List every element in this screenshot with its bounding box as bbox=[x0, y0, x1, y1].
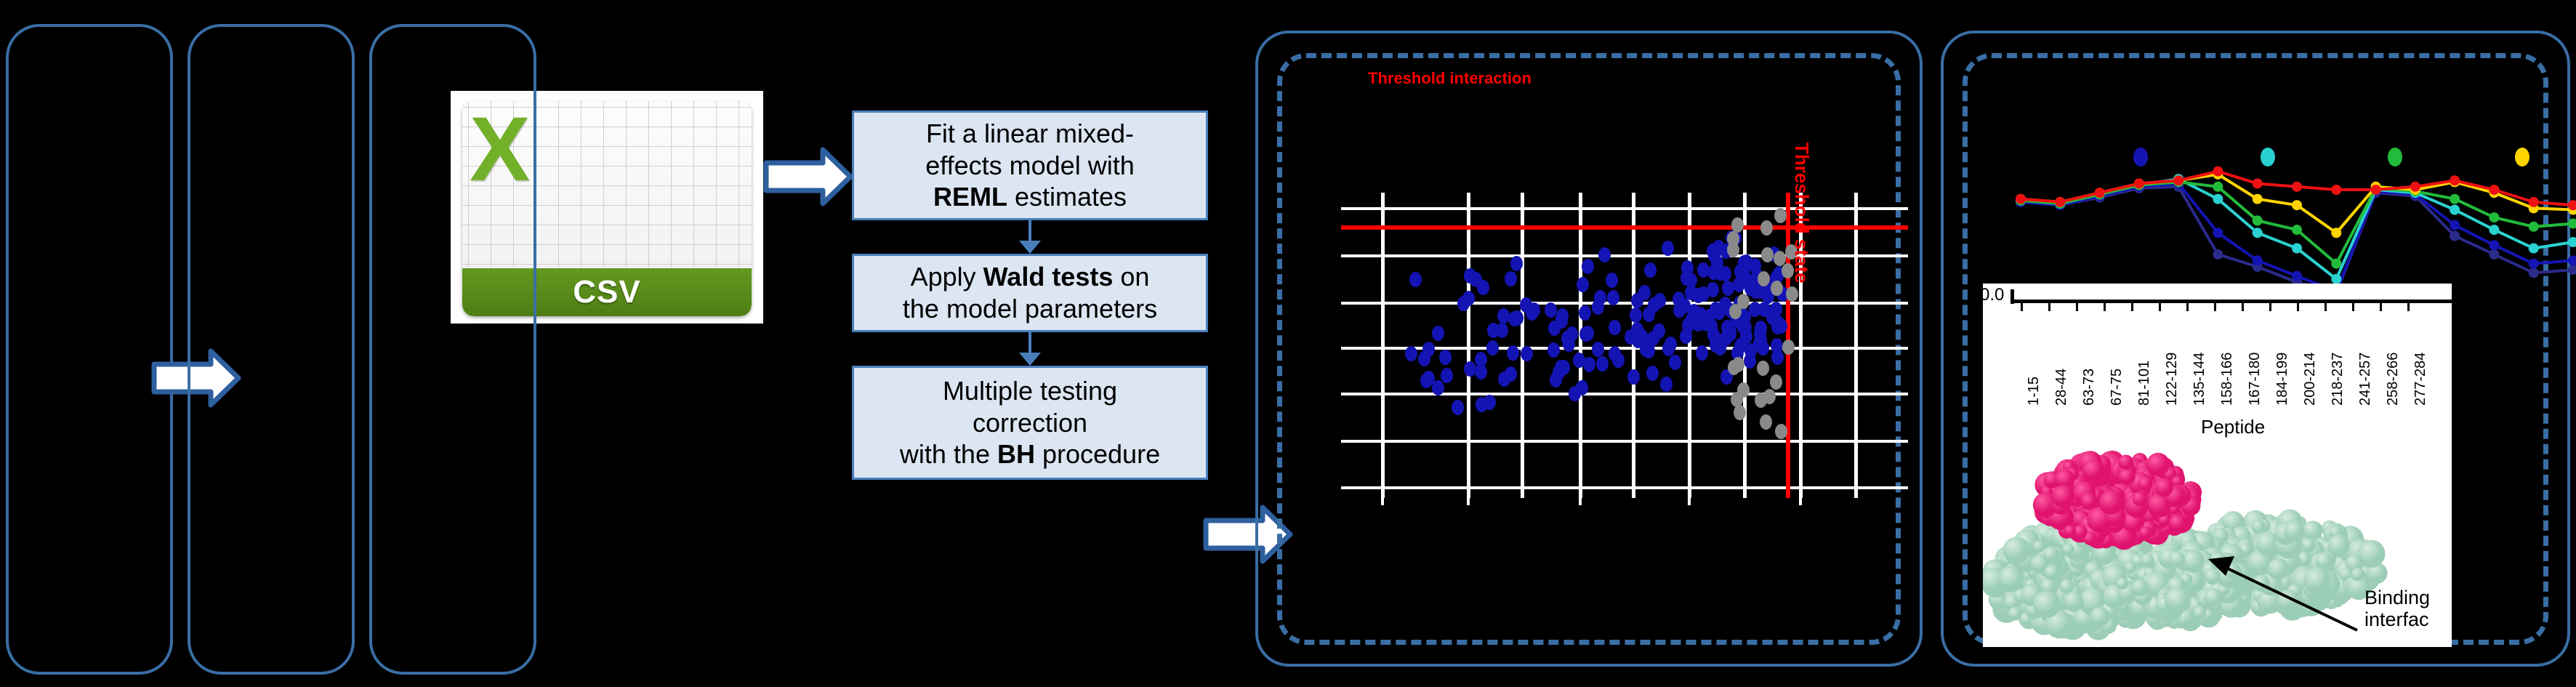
peptide-tick-label: 200-214 bbox=[2302, 353, 2319, 406]
peptide-tick-label: 1-15 bbox=[2026, 377, 2042, 406]
data-point-significant bbox=[1660, 377, 1673, 392]
x-axis-tick bbox=[2242, 301, 2244, 311]
x-axis-tick bbox=[2131, 301, 2133, 311]
data-point-significant bbox=[1625, 329, 1637, 345]
data-point-significant bbox=[1432, 326, 1444, 341]
data-point-significant bbox=[1644, 262, 1657, 278]
data-point-significant bbox=[1547, 342, 1560, 358]
data-point-significant bbox=[1486, 340, 1499, 355]
x-axis-tick bbox=[2159, 301, 2161, 311]
workflow-diagram: X CSV Fit a linear mixed- effects model … bbox=[0, 0, 2576, 687]
model-fit-line1: Fit a linear mixed- bbox=[926, 118, 1134, 148]
data-point-nonsignificant bbox=[1734, 405, 1746, 420]
x-axis-tick bbox=[2297, 301, 2299, 311]
binding-interface-label: Binding interfac bbox=[2364, 587, 2430, 630]
volcano-scatter-plot[interactable] bbox=[1341, 193, 1908, 498]
x-axis-title: Peptide bbox=[2201, 416, 2265, 438]
data-point-significant bbox=[1757, 340, 1769, 355]
data-point-significant bbox=[1749, 302, 1761, 317]
data-point-significant bbox=[1699, 316, 1711, 331]
data-point-significant bbox=[1579, 326, 1592, 342]
model-fit-line2: effects model with bbox=[925, 150, 1134, 180]
data-point-significant bbox=[1439, 350, 1452, 365]
wald-line2: the model parameters bbox=[903, 294, 1157, 324]
protein-structure-image bbox=[1983, 438, 2452, 678]
gridline-h bbox=[1341, 393, 1908, 395]
data-point-significant bbox=[1577, 277, 1589, 292]
data-point-significant bbox=[1707, 282, 1719, 297]
data-point-significant bbox=[1646, 366, 1659, 381]
data-point-significant bbox=[1707, 265, 1720, 280]
data-point-significant bbox=[1464, 361, 1476, 377]
wald-tests-bold: Wald tests bbox=[983, 262, 1114, 292]
peptide-tick-label: 81-101 bbox=[2136, 361, 2153, 406]
data-point-significant bbox=[1464, 268, 1476, 284]
x-axis-tick bbox=[2352, 301, 2354, 311]
data-point-significant bbox=[1744, 353, 1756, 369]
data-point-nonsignificant bbox=[1786, 286, 1798, 302]
data-point-significant bbox=[1734, 264, 1747, 279]
data-point-nonsignificant bbox=[1758, 271, 1770, 286]
arrow-to-model bbox=[763, 144, 855, 209]
peptide-tick-label: 241-257 bbox=[2357, 353, 2374, 406]
data-point-significant bbox=[1505, 366, 1517, 382]
peptide-tick-label: 218-237 bbox=[2330, 353, 2346, 406]
statistical-analysis-panel[interactable] bbox=[369, 24, 536, 675]
data-point-significant bbox=[1462, 291, 1475, 306]
binding-label-line2: interfac bbox=[2364, 608, 2429, 630]
peptide-tick-label: 122-129 bbox=[2164, 353, 2181, 406]
x-axis-tick bbox=[2407, 301, 2410, 311]
data-point-significant bbox=[1696, 345, 1708, 361]
peptide-chart-legend bbox=[2006, 142, 2576, 185]
data-point-significant bbox=[1724, 324, 1736, 340]
threshold-interaction-label: Threshold interaction bbox=[1368, 69, 1531, 88]
data-point-significant bbox=[1422, 342, 1435, 357]
data-point-significant bbox=[1510, 256, 1523, 271]
peptide-tick-label: 167-180 bbox=[2247, 353, 2263, 406]
data-point-significant bbox=[1594, 290, 1606, 305]
peptide-tick-label: 135-144 bbox=[2191, 353, 2208, 406]
x-axis-tick bbox=[2021, 301, 2023, 311]
model-fit-reml: REML bbox=[933, 182, 1007, 212]
gridline-v bbox=[1381, 193, 1385, 498]
data-point-significant bbox=[1555, 310, 1568, 326]
data-point-significant bbox=[1592, 342, 1604, 357]
data-point-significant bbox=[1409, 272, 1422, 287]
process-box-bh-correction-text: Multiple testing correction with the BH … bbox=[900, 375, 1160, 471]
data-point-significant bbox=[1770, 302, 1782, 317]
data-point-significant bbox=[1576, 380, 1588, 395]
data-point-nonsignificant bbox=[1774, 208, 1787, 223]
data-point-significant bbox=[1627, 369, 1640, 385]
x-axis-tick bbox=[2048, 301, 2050, 311]
gridline-v bbox=[1521, 193, 1524, 498]
data-point-significant bbox=[1719, 266, 1731, 281]
axis-tick bbox=[1467, 486, 1470, 505]
data-point-nonsignificant bbox=[1731, 217, 1744, 233]
peptide-structure-figure[interactable]: 0.0 1-1528-4463-7367-7581-101122-129135-… bbox=[1983, 284, 2452, 647]
gridline-h bbox=[1341, 440, 1908, 443]
data-point-nonsignificant bbox=[1770, 374, 1782, 390]
data-point-significant bbox=[1505, 271, 1517, 286]
connector-2-head bbox=[1019, 353, 1041, 366]
data-point-significant bbox=[1750, 284, 1762, 299]
data-point-nonsignificant bbox=[1782, 340, 1795, 355]
legend-dot bbox=[2388, 148, 2402, 166]
data-point-nonsignificant bbox=[1727, 231, 1739, 246]
data-point-significant bbox=[1598, 247, 1611, 262]
csv-data-panel[interactable] bbox=[188, 24, 355, 675]
peptide-tick-label: 258-266 bbox=[2385, 353, 2402, 406]
axis-tick bbox=[1579, 486, 1582, 505]
gridline-v bbox=[1579, 193, 1582, 498]
data-point-significant bbox=[1596, 356, 1609, 371]
data-point-significant bbox=[1771, 338, 1783, 353]
y-axis-cap bbox=[2011, 289, 2014, 304]
data-point-nonsignificant bbox=[1760, 220, 1773, 236]
data-point-significant bbox=[1722, 281, 1734, 296]
process-box-bh-correction[interactable]: Multiple testing correction with the BH … bbox=[852, 366, 1208, 480]
data-point-significant bbox=[1477, 280, 1489, 295]
x-axis-tick bbox=[2325, 301, 2327, 311]
data-point-significant bbox=[1545, 302, 1557, 318]
data-point-significant bbox=[1475, 352, 1487, 367]
data-point-significant bbox=[1566, 326, 1578, 342]
x-axis-tick bbox=[2214, 301, 2216, 311]
legend-dot bbox=[2261, 148, 2275, 166]
x-axis-tick bbox=[2104, 301, 2106, 311]
data-point-significant bbox=[1685, 285, 1697, 300]
data-point-significant bbox=[1607, 290, 1619, 305]
bh-line1: Multiple testing bbox=[943, 376, 1117, 406]
data-point-significant bbox=[1662, 341, 1675, 356]
data-point-significant bbox=[1635, 329, 1648, 344]
bh-bold: BH bbox=[997, 439, 1035, 469]
data-point-significant bbox=[1579, 305, 1591, 321]
data-point-nonsignificant bbox=[1761, 247, 1774, 262]
gridline-h bbox=[1341, 486, 1908, 489]
threshold-state-label: Threshold state bbox=[1790, 142, 1813, 284]
gridline-h bbox=[1341, 207, 1908, 210]
data-point-significant bbox=[1673, 302, 1686, 318]
data-point-nonsignificant bbox=[1757, 361, 1769, 376]
data-point-significant bbox=[1507, 345, 1519, 361]
data-point-significant bbox=[1606, 273, 1618, 288]
process-box-model-fit[interactable]: Fit a linear mixed- effects model with R… bbox=[852, 111, 1208, 220]
data-point-significant bbox=[1484, 395, 1496, 410]
data-point-nonsignificant bbox=[1771, 281, 1783, 296]
data-point-significant bbox=[1648, 297, 1660, 313]
data-point-significant bbox=[1707, 244, 1719, 259]
x-axis-tick bbox=[2186, 301, 2189, 311]
x-axis-tick bbox=[2269, 301, 2271, 311]
connector-1-head bbox=[1019, 241, 1041, 254]
data-point-significant bbox=[1582, 259, 1594, 274]
bh-line2: correction bbox=[973, 408, 1087, 438]
data-point-significant bbox=[1609, 320, 1621, 335]
gridline-v bbox=[1854, 193, 1858, 498]
process-box-wald-tests-text: Apply Wald tests on the model parameters bbox=[903, 261, 1157, 325]
data-point-significant bbox=[1630, 308, 1642, 323]
data-point-significant bbox=[1573, 353, 1585, 368]
bh-line3-pre: with the bbox=[900, 439, 997, 469]
data-point-nonsignificant bbox=[1732, 357, 1744, 372]
data-point-nonsignificant bbox=[1755, 393, 1767, 408]
data-point-significant bbox=[1526, 305, 1538, 321]
x-axis-tick bbox=[2076, 301, 2078, 311]
data-point-significant bbox=[1487, 323, 1500, 338]
gridline-h bbox=[1341, 302, 1908, 305]
data-point-significant bbox=[1521, 346, 1533, 361]
data-point-significant bbox=[1422, 371, 1435, 386]
gridline-v bbox=[1467, 193, 1470, 498]
data-point-significant bbox=[1640, 342, 1652, 357]
threshold-interaction-line bbox=[1341, 225, 1908, 230]
data-point-significant bbox=[1669, 355, 1681, 370]
data-point-nonsignificant bbox=[1760, 414, 1772, 430]
gridline-v bbox=[1688, 193, 1691, 498]
data-point-significant bbox=[1555, 360, 1567, 375]
process-box-wald-tests[interactable]: Apply Wald tests on the model parameters bbox=[852, 254, 1208, 332]
peptide-tick-label: 184-199 bbox=[2274, 353, 2291, 406]
axis-tick bbox=[1799, 486, 1802, 505]
peptide-tick-label: 277-284 bbox=[2412, 353, 2429, 406]
bh-line3-post: procedure bbox=[1035, 439, 1160, 469]
data-point-significant bbox=[1405, 346, 1417, 361]
data-point-nonsignificant bbox=[1737, 294, 1750, 309]
data-point-significant bbox=[1441, 368, 1453, 383]
data-point-significant bbox=[1772, 316, 1784, 331]
data-point-significant bbox=[1609, 346, 1621, 361]
y-tick-label-0: 0.0 bbox=[1980, 285, 2004, 305]
data-point-significant bbox=[1508, 311, 1521, 326]
data-point-significant bbox=[1662, 241, 1674, 256]
gridline-h bbox=[1341, 254, 1908, 257]
peptide-tick-label: 28-44 bbox=[2053, 369, 2070, 406]
data-point-significant bbox=[1452, 400, 1464, 415]
data-point-nonsignificant bbox=[1775, 424, 1787, 439]
wald-line1-pre: Apply bbox=[911, 262, 983, 292]
input-data-panel[interactable] bbox=[6, 24, 173, 675]
legend-dot bbox=[2133, 148, 2148, 166]
axis-tick bbox=[1688, 486, 1691, 505]
peptide-tick-label: 63-73 bbox=[2081, 369, 2098, 406]
axis-tick bbox=[1381, 486, 1384, 505]
data-point-significant bbox=[1710, 302, 1722, 317]
legend-dot bbox=[2515, 148, 2529, 166]
x-axis-tick bbox=[2380, 301, 2382, 311]
model-fit-line3-rest: estimates bbox=[1007, 182, 1127, 212]
data-point-significant bbox=[1638, 285, 1651, 300]
peptide-tick-label: 158-166 bbox=[2219, 353, 2236, 406]
process-box-model-fit-text: Fit a linear mixed- effects model with R… bbox=[925, 118, 1134, 214]
data-point-significant bbox=[1749, 258, 1761, 273]
binding-label-line1: Binding bbox=[2364, 587, 2430, 608]
wald-line1-post: on bbox=[1113, 262, 1149, 292]
peptide-tick-label: 67-75 bbox=[2109, 369, 2125, 406]
